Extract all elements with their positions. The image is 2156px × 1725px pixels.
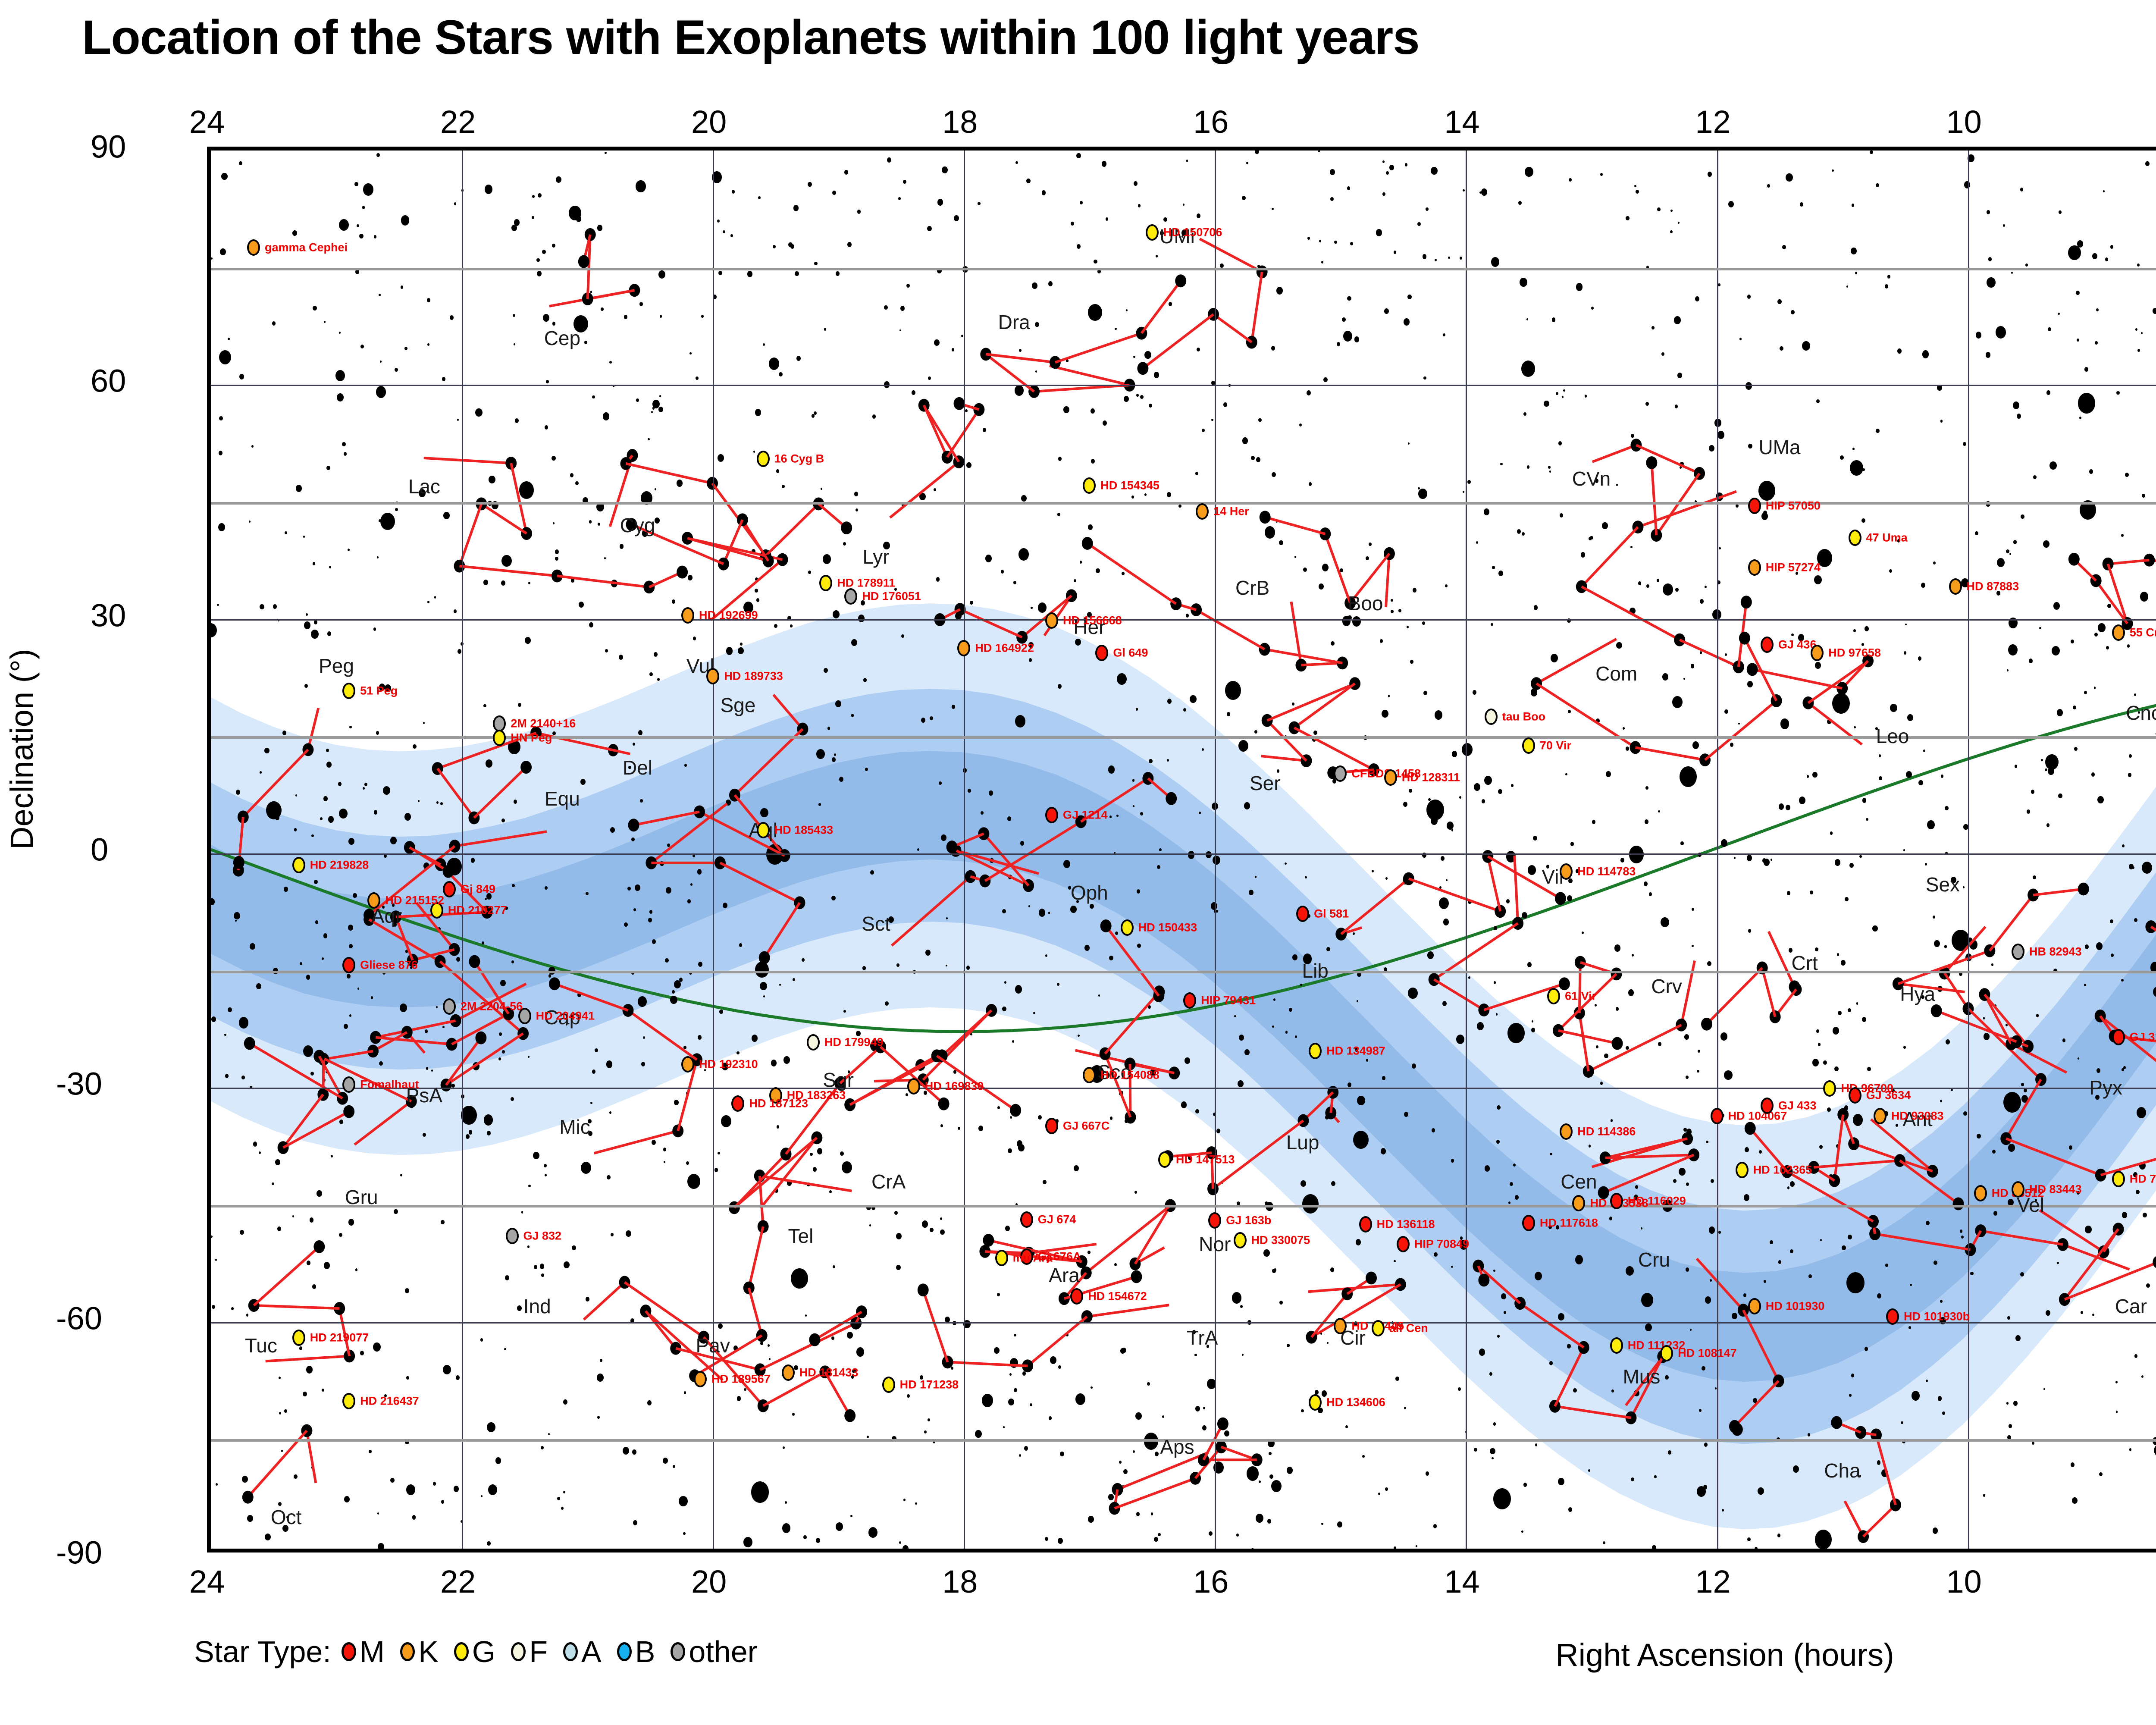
ra-tick-label: 16 — [1193, 103, 1228, 140]
ra-tick-label: 20 — [691, 1563, 727, 1600]
dec-tick-label: 90 — [91, 129, 126, 165]
grid-line-dec — [211, 619, 2156, 621]
host-star-marker — [1522, 1215, 1535, 1231]
host-star-marker — [1849, 1087, 1861, 1104]
host-star-marker — [1045, 612, 1058, 629]
host-star-marker — [882, 1377, 895, 1393]
grid-line-ra — [1466, 151, 1467, 1549]
host-star-label: HD 150706 — [1163, 226, 1222, 239]
legend-item-g: G — [454, 1634, 495, 1669]
host-star-label: HN Peg — [511, 731, 552, 745]
host-star-label: HIP 57274 — [1766, 561, 1821, 574]
grid-line-ra — [1717, 151, 1718, 1549]
host-star-marker — [1610, 1337, 1623, 1354]
constellation-label: Com — [1595, 662, 1637, 685]
host-star-marker — [1974, 1185, 1987, 1201]
host-star-label: tau Boo — [1502, 710, 1546, 724]
host-star-marker — [957, 640, 970, 656]
ra-tick-label: 24 — [189, 103, 225, 140]
host-star-marker — [506, 1228, 519, 1244]
host-star-marker — [807, 1034, 820, 1051]
host-star-marker — [1045, 1118, 1058, 1134]
host-star-label: HD 75289 — [2130, 1173, 2156, 1186]
constellation-label: Tel — [788, 1224, 813, 1248]
constellation-label: Sct — [862, 912, 890, 935]
dec-tick-label: -30 — [56, 1066, 102, 1102]
host-star-marker — [342, 1393, 355, 1409]
host-star-label: HD 181433 — [799, 1366, 859, 1380]
constellation-label: Hya — [1900, 982, 1935, 1006]
grid-line-dec — [211, 385, 2156, 386]
legend-label: K — [418, 1634, 439, 1669]
host-star-label: HD 219828 — [310, 859, 369, 872]
host-star-label: HD 150433 — [1138, 921, 1197, 935]
host-star-label: HD 192310 — [699, 1058, 758, 1071]
constellation-label: UMa — [1758, 436, 1800, 459]
host-star-marker — [1083, 477, 1096, 494]
constellation-label: Peg — [319, 654, 354, 677]
constellation-label: Nor — [1199, 1233, 1231, 1256]
host-star-marker — [2112, 1029, 2125, 1045]
legend-item-b: B — [617, 1634, 655, 1669]
grid-line-dec — [211, 971, 2156, 973]
constellation-label: CVn — [1572, 467, 1611, 490]
host-star-label: GJ 163b — [1226, 1214, 1271, 1227]
host-star-marker — [757, 822, 770, 838]
constellation-label: Cha — [1824, 1459, 1860, 1482]
constellation-label: Equ — [545, 787, 580, 810]
host-star-marker — [1761, 637, 1774, 653]
host-star-label: GJ 667C — [1063, 1120, 1109, 1133]
dec-tick-label: 30 — [91, 597, 126, 634]
host-star-marker — [694, 1371, 707, 1387]
host-star-label: HD 108147 — [1678, 1347, 1737, 1360]
legend-label: F — [529, 1634, 548, 1669]
host-star-marker — [247, 239, 260, 256]
host-star-marker — [1660, 1345, 1673, 1361]
host-star-marker — [493, 730, 506, 746]
host-star-label: HD 178911 — [837, 577, 895, 590]
constellation-label: Cru — [1638, 1248, 1670, 1271]
host-star-label: GJ 3634 — [1866, 1089, 1911, 1102]
grid-line-dec — [211, 1205, 2156, 1207]
legend-item-k: K — [400, 1634, 439, 1669]
constellation-label: Sex — [1926, 873, 1960, 896]
ra-tick-label: 22 — [440, 103, 476, 140]
constellation-label: Lac — [408, 475, 440, 498]
host-star-marker — [1849, 530, 1861, 546]
y-axis-label: Declination (°) — [3, 649, 40, 850]
host-star-marker — [367, 892, 380, 909]
legend-swatch-a — [563, 1642, 578, 1661]
host-star-marker — [518, 1008, 531, 1024]
host-star-label: HD 83443 — [2029, 1182, 2082, 1196]
host-star-marker — [844, 588, 857, 605]
constellation-label: Cen — [1561, 1170, 1597, 1193]
host-star-marker — [1748, 1298, 1761, 1314]
host-star-label: HD 114386 — [1577, 1125, 1636, 1138]
host-star-label: HD 117618 — [1540, 1216, 1598, 1229]
host-star-label: GJ 433 — [1778, 1099, 1817, 1113]
host-star-label: 14 Her — [1213, 505, 1249, 518]
host-star-marker — [1384, 769, 1397, 786]
host-star-label: HD 171238 — [900, 1378, 959, 1391]
host-star-marker — [1070, 1288, 1083, 1305]
legend-item-other: other — [671, 1634, 758, 1669]
host-star-marker — [731, 1095, 744, 1112]
star-type-legend: Star Type: MKGFABother — [194, 1634, 773, 1669]
host-star-label: HD 101930b — [1904, 1310, 1970, 1324]
host-star-label: HD 215152 — [385, 894, 444, 907]
host-star-label: HD 136118 — [1377, 1218, 1435, 1231]
host-star-marker — [292, 857, 305, 873]
constellation-label: Mus — [1623, 1365, 1660, 1388]
host-star-marker — [1547, 988, 1560, 1004]
host-star-marker — [443, 881, 456, 897]
ra-tick-label: 16 — [1193, 1563, 1228, 1600]
legend-swatch-g — [454, 1642, 469, 1661]
host-star-marker — [995, 1250, 1008, 1266]
star-chart-plot: CepLacCygDraUMiVulPegSgeLyrHerCrBBooCVnU… — [207, 147, 2156, 1552]
host-star-marker — [819, 575, 832, 591]
page-title: Location of the Stars with Exoplanets wi… — [82, 9, 1419, 65]
constellation-label: Tuc — [245, 1334, 277, 1357]
host-star-marker — [1823, 1080, 1836, 1097]
host-star-label: HD 169830 — [925, 1079, 984, 1093]
host-star-marker — [782, 1364, 795, 1381]
host-star-marker — [1095, 645, 1108, 661]
host-star-marker — [907, 1078, 920, 1095]
host-star-label: 51 Peg — [360, 684, 398, 698]
legend-label: other — [689, 1634, 758, 1669]
constellation-label: Ara — [1049, 1264, 1080, 1287]
host-star-label: gamma Cephei — [265, 241, 348, 254]
constellation-label: Cyg — [620, 514, 655, 537]
constellation-label: TrA — [1187, 1326, 1218, 1349]
host-star-marker — [1359, 1216, 1372, 1233]
host-star-label: Gl 581 — [1314, 907, 1349, 920]
host-star-label: HD 185433 — [774, 823, 834, 837]
dec-tick-label: -60 — [56, 1300, 102, 1336]
legend-item-a: A — [563, 1634, 602, 1669]
constellation-label: Cep — [544, 326, 580, 350]
host-star-marker — [706, 668, 719, 684]
host-star-label: HD 179949 — [824, 1036, 884, 1049]
host-star-label: HD 97658 — [1828, 646, 1881, 659]
legend-title: Star Type: — [194, 1634, 331, 1669]
host-star-marker — [1196, 503, 1209, 520]
host-star-marker — [1485, 709, 1498, 725]
host-star-label: HD 176051 — [862, 590, 921, 603]
constellation-label: Sge — [720, 693, 755, 717]
grid-line-ra — [1968, 151, 1969, 1549]
host-star-marker — [342, 957, 355, 973]
host-star-marker — [292, 1330, 305, 1346]
legend-swatch-f — [511, 1642, 526, 1661]
host-star-marker — [1748, 559, 1761, 576]
host-star-marker — [1397, 1236, 1410, 1252]
constellation-label: CrA — [871, 1170, 906, 1193]
host-star-marker — [2112, 1171, 2125, 1187]
host-star-label: HD 154345 — [1100, 479, 1159, 492]
legend-label: M — [360, 1634, 385, 1669]
host-star-marker — [1372, 1320, 1385, 1336]
host-star-marker — [1811, 645, 1824, 661]
ra-tick-label: 10 — [1946, 1563, 1981, 1600]
host-star-label: GJ 832 — [523, 1229, 562, 1243]
host-star-label: HIP 70849 — [1414, 1237, 1469, 1251]
constellation-label: Lup — [1286, 1131, 1319, 1154]
host-star-marker — [1183, 992, 1196, 1009]
ra-tick-label: 10 — [1946, 103, 1981, 140]
host-star-label: GJ 317 — [2130, 1030, 2156, 1044]
legend-swatch-b — [617, 1642, 632, 1661]
constellation-label: Oph — [1071, 881, 1108, 904]
grid-line-ra — [462, 151, 463, 1549]
host-star-label: 2M 2204-56 — [461, 1000, 523, 1013]
host-star-label: 61 Vir — [1565, 990, 1596, 1003]
host-star-marker — [681, 1056, 694, 1073]
host-star-marker — [1572, 1195, 1585, 1211]
host-star-marker — [443, 998, 456, 1015]
host-star-marker — [1334, 765, 1347, 782]
host-star-marker — [1610, 1193, 1623, 1209]
host-star-label: HD 116029 — [1628, 1194, 1686, 1207]
host-star-marker — [1560, 1123, 1573, 1140]
constellation-label: Oct — [271, 1505, 302, 1529]
constellation-label: Gru — [345, 1186, 378, 1209]
dec-tick-label: -90 — [56, 1534, 102, 1571]
grid-line-dec — [211, 853, 2156, 855]
host-star-label: alf Cen — [1389, 1322, 1428, 1335]
constellation-label: Del — [623, 756, 652, 779]
constellation-label: Ser — [1250, 772, 1281, 795]
host-star-label: HD 154088 — [1100, 1069, 1159, 1082]
host-star-marker — [342, 1076, 355, 1093]
ra-tick-label: 18 — [942, 1563, 978, 1600]
host-star-marker — [1234, 1232, 1247, 1248]
host-star-label: 55 Cnc — [2130, 626, 2156, 639]
constellation-label: Crv — [1651, 975, 1682, 998]
host-star-label: HD 156668 — [1063, 614, 1122, 627]
host-star-marker — [1083, 1067, 1096, 1083]
host-star-marker — [1045, 807, 1058, 823]
ra-tick-label: 12 — [1695, 1563, 1730, 1600]
host-star-label: HD 164922 — [975, 641, 1034, 655]
ra-tick-label: 18 — [942, 103, 978, 140]
grid-line-dec — [211, 502, 2156, 505]
constellation-label: CrB — [1235, 576, 1269, 599]
ra-tick-label: 24 — [189, 1563, 225, 1600]
host-star-marker — [1748, 498, 1761, 514]
ra-tick-label: 12 — [1695, 103, 1730, 140]
host-star-label: HD 102365 — [1753, 1163, 1812, 1176]
host-star-label: Gj 849 — [461, 883, 495, 896]
constellation-label: Lyr — [862, 545, 889, 568]
host-star-label: HD 154672 — [1088, 1289, 1147, 1303]
host-star-marker — [1949, 578, 1962, 595]
host-star-label: HD 219077 — [310, 1331, 369, 1344]
constellation-label: Pyx — [2089, 1076, 2122, 1099]
host-star-marker — [1334, 1318, 1347, 1334]
host-star-label: HIP 79431 — [1201, 994, 1256, 1007]
legend-item-m: M — [342, 1634, 385, 1669]
host-star-label: GJ 674 — [1038, 1213, 1076, 1226]
host-star-label: HD 101930 — [1766, 1300, 1825, 1313]
ra-tick-label: 22 — [440, 1563, 476, 1600]
grid-line-dec — [211, 268, 2156, 270]
constellation-label: Sgr — [823, 1068, 854, 1091]
host-star-label: GJ 1214 — [1063, 809, 1108, 822]
host-star-label: Fomalhaut — [360, 1078, 419, 1091]
constellation-label: Crt — [1792, 951, 1818, 975]
legend-item-f: F — [511, 1634, 548, 1669]
host-star-label: Gliese 876 — [360, 959, 418, 972]
host-star-marker — [1208, 1212, 1221, 1229]
host-star-label: 47 Uma — [1866, 531, 1908, 545]
host-star-label: HB 82943 — [2029, 945, 2082, 959]
ra-tick-label: 14 — [1444, 103, 1479, 140]
constellation-label: Car — [2115, 1295, 2147, 1318]
host-star-label: HD 93083 — [1891, 1109, 1944, 1123]
ra-tick-label: 20 — [691, 103, 727, 140]
host-star-label: HD 87883 — [1967, 580, 2019, 593]
host-star-label: 70 Vir — [1540, 739, 1571, 753]
host-star-label: 2M 2140+16 — [511, 717, 576, 731]
host-star-label: HD 204941 — [536, 1009, 595, 1022]
host-star-label: HD 134606 — [1326, 1396, 1385, 1409]
host-star-marker — [1309, 1394, 1322, 1411]
host-star-marker — [1736, 1162, 1749, 1178]
constellation-label: Boo — [1348, 592, 1383, 615]
constellation-label: Dra — [998, 310, 1030, 334]
host-star-label: HIP 57050 — [1766, 499, 1821, 513]
constellation-label: Mic — [559, 1115, 590, 1138]
legend-swatch-m — [342, 1642, 356, 1661]
constellation-label: Leo — [1876, 724, 1909, 748]
host-star-marker — [1309, 1043, 1322, 1059]
host-star-label: Gl 649 — [1113, 646, 1148, 659]
legend-swatch-other — [671, 1642, 685, 1661]
host-star-marker — [1158, 1151, 1171, 1168]
host-star-label: HD 111232 — [1628, 1339, 1686, 1352]
host-star-marker — [2112, 624, 2125, 641]
grid-line-dec — [211, 1322, 2156, 1324]
constellation-lines — [211, 151, 2156, 1549]
host-star-marker — [2012, 1181, 2024, 1198]
host-star-marker — [1761, 1098, 1774, 1114]
legend-swatch-k — [400, 1642, 415, 1661]
dec-tick-label: 0 — [91, 831, 108, 868]
host-star-marker — [1020, 1211, 1033, 1228]
host-star-label: HD 147513 — [1176, 1153, 1235, 1167]
host-star-marker — [342, 683, 355, 699]
host-star-label: HD 189567 — [711, 1372, 771, 1386]
legend-label: B — [635, 1634, 655, 1669]
legend-label: G — [472, 1634, 495, 1669]
host-star-marker — [757, 451, 770, 467]
host-star-marker — [1711, 1108, 1724, 1124]
host-star-label: mu Ara — [1013, 1251, 1053, 1265]
x-axis-label: Right Ascension (hours) — [1555, 1637, 1894, 1673]
host-star-marker — [1146, 224, 1159, 241]
host-star-marker — [1886, 1308, 1899, 1325]
host-star-label: HD 187123 — [749, 1097, 808, 1110]
host-star-label: HD 134987 — [1326, 1044, 1385, 1058]
host-star-marker — [1121, 919, 1134, 936]
host-star-marker — [681, 607, 694, 624]
host-star-marker — [1560, 863, 1573, 880]
host-star-label: HD 216437 — [360, 1394, 419, 1408]
host-star-label: HD 210277 — [448, 904, 507, 917]
host-star-label: HD 114783 — [1577, 865, 1636, 878]
host-star-label: HD 330075 — [1251, 1233, 1310, 1247]
constellation-label: Cnc — [2126, 701, 2156, 724]
host-star-label: HD 192699 — [699, 608, 758, 622]
host-star-label: 16 Cyg B — [774, 452, 824, 466]
constellation-label: Aps — [1160, 1435, 1194, 1458]
host-star-marker — [2012, 944, 2024, 960]
ra-tick-label: 14 — [1444, 1563, 1479, 1600]
host-star-label: HD 128311 — [1402, 771, 1460, 784]
host-star-marker — [1296, 906, 1309, 922]
constellation-label: Ind — [523, 1295, 551, 1318]
dec-tick-label: 60 — [91, 363, 126, 399]
constellation-label: Pav — [696, 1334, 730, 1357]
grid-line-ra — [964, 151, 965, 1549]
constellation-label: Lib — [1302, 959, 1328, 982]
host-star-marker — [1874, 1108, 1887, 1124]
legend-label: A — [581, 1634, 602, 1669]
host-star-label: HD 189733 — [724, 669, 783, 683]
host-star-marker — [1522, 737, 1535, 754]
